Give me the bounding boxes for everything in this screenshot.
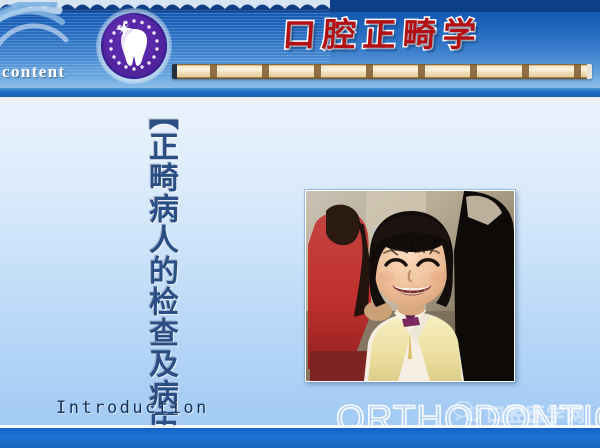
slide-header: content — [0, 0, 600, 92]
header-divider-highlight — [0, 97, 600, 100]
presentation-slide: content — [0, 0, 600, 448]
wechat-logo-icon — [452, 400, 482, 427]
footer-bar — [0, 428, 600, 448]
vertical-subject-title: 【正畸病人的检查及病历书写】 — [108, 100, 174, 448]
tooth-logo-icon — [96, 6, 172, 86]
child-portrait-photo — [305, 190, 515, 382]
watermark-label: 口腔医学网 — [486, 400, 586, 427]
bamboo-ruler-icon — [172, 64, 592, 79]
header-divider — [0, 88, 600, 97]
site-watermark: 口腔医学网 — [452, 400, 586, 427]
header-content-label: content — [2, 62, 66, 82]
introduction-label: Introduction — [56, 398, 209, 418]
page-title: 口腔正畸学 — [281, 8, 484, 56]
